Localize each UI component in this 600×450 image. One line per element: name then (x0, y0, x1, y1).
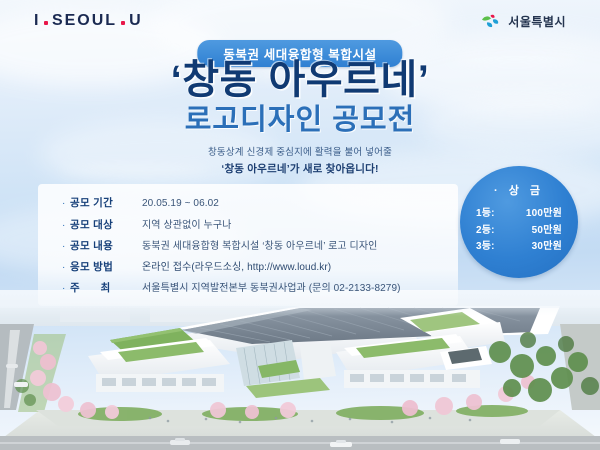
seoul-city-name: 서울특별시 (508, 13, 566, 30)
detail-value: 서울특별시 지역발전본부 동북권사업과 (문의 02-2133-8279) (142, 279, 401, 294)
detail-value: 동북권 세대융합형 복합시설 ‘창동 아우르네’ 로고 디자인 (142, 237, 377, 252)
seoul-city-brand: 서울특별시 (481, 13, 566, 30)
prize-amount: 100만원 (526, 206, 562, 223)
tagline-line-1: 창동상계 신경제 중심지에 활력을 불어 넣어줄 (0, 146, 600, 161)
competition-details-list: · 공모 기간 20.05.19 ~ 06.02 · 공모 대상 지역 상관없이… (62, 195, 462, 300)
prize-row-third: 3등: 30만원 (472, 239, 566, 256)
logo-letter-u: U (129, 12, 142, 30)
prize-rank: 3등: (476, 239, 495, 256)
detail-row-subject: · 공모 내용 동북권 세대융합형 복합시설 ‘창동 아우르네’ 로고 디자인 (62, 237, 462, 258)
logo-letter-i: I (34, 12, 40, 30)
prize-rank: 1등: (476, 206, 495, 223)
detail-label: 공모 기간 (70, 195, 142, 210)
detail-label: 공모 대상 (70, 217, 142, 232)
logo-dot-icon (121, 21, 125, 25)
prize-row-first: 1등: 100만원 (472, 206, 566, 223)
logo-dot-icon (44, 21, 48, 25)
bullet-icon: · (62, 220, 70, 231)
detail-value: 지역 상관없이 누구나 (142, 216, 231, 231)
prize-amount: 50만원 (532, 223, 562, 240)
page-title: ‘창동 아우르네’ (0, 60, 600, 100)
detail-value-submission-url[interactable]: 온라인 접수(라우드소싱, http://www.loud.kr) (142, 258, 331, 273)
detail-value: 20.05.19 ~ 06.02 (142, 198, 219, 209)
prize-badge: · 상 금 1등: 100만원 2등: 50만원 3등: 30만원 (460, 166, 578, 278)
poster-header: I SEOUL U 서울특별시 (0, 0, 600, 42)
bullet-icon: · (62, 262, 70, 273)
detail-label: 응모 방법 (70, 259, 142, 274)
prize-rank: 2등: (476, 223, 495, 240)
bullet-icon: · (62, 198, 70, 209)
i-seoul-u-logo: I SEOUL U (34, 12, 142, 30)
detail-row-organizer: · 주 최 서울특별시 지역발전본부 동북권사업과 (문의 02-2133-82… (62, 279, 462, 300)
detail-label: 공모 내용 (70, 238, 142, 253)
poster-root: I SEOUL U 서울특별시 동북권 세대융합형 복합시설 ‘창동 아우르네’… (0, 0, 600, 450)
detail-row-eligibility: · 공모 대상 지역 상관없이 누구나 (62, 216, 462, 237)
building-rendering (0, 290, 600, 450)
bullet-icon: · (62, 283, 70, 294)
bullet-icon: · (62, 241, 70, 252)
logo-word-seoul: SEOUL (52, 12, 117, 30)
prize-amount: 30만원 (532, 239, 562, 256)
prize-row-second: 2등: 50만원 (472, 223, 566, 240)
prize-title: · 상 금 (494, 182, 544, 198)
detail-row-period: · 공모 기간 20.05.19 ~ 06.02 (62, 195, 462, 216)
detail-label: 주 최 (70, 280, 142, 295)
page-subtitle: 로고디자인 공모전 (0, 106, 600, 135)
seoul-symbol-icon (481, 13, 503, 29)
detail-row-submission[interactable]: · 응모 방법 온라인 접수(라우드소싱, http://www.loud.kr… (62, 258, 462, 279)
